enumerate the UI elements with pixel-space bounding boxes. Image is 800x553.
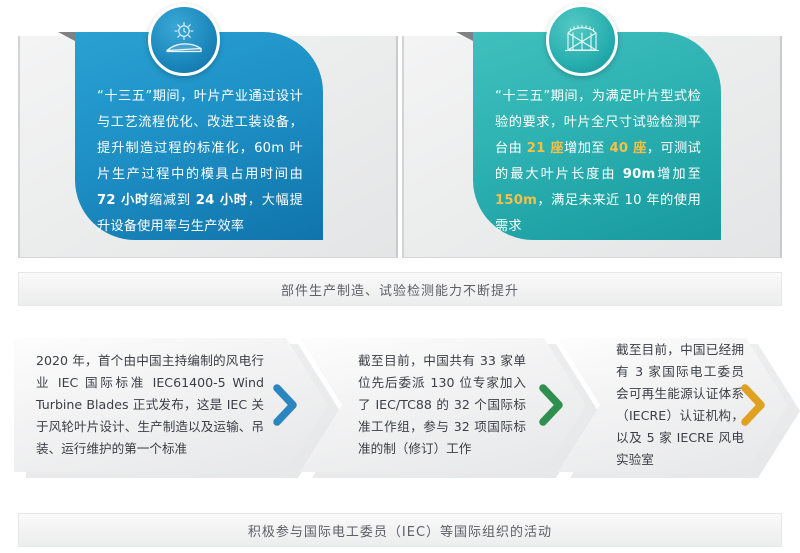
blade-24h-icon — [148, 4, 220, 76]
standards-card-experts-text: 截至目前，中国共有 33 家单位先后委派 130 位专家加入了 IEC/TC88… — [358, 350, 526, 460]
bottom-caption-bar: 积极参与国际电工委员（IEC）等国际组织的活动 — [18, 513, 782, 547]
top-caption-bar: 部件生产制造、试验检测能力不断提升 — [18, 272, 782, 306]
top-section: “十三五”期间，叶片产业通过设计与工艺流程优化、改进工装设备，提升制造过程的标准… — [0, 0, 800, 262]
chevron-right-green-icon — [538, 384, 564, 426]
highlight-card-production-text: “十三五”期间，叶片产业通过设计与工艺流程优化、改进工装设备，提升制造过程的标准… — [97, 84, 303, 240]
corner-fold-icon — [456, 32, 473, 41]
chevron-right-orange-icon — [740, 384, 766, 426]
top-caption-text: 部件生产制造、试验检测能力不断提升 — [281, 280, 519, 299]
chevron-right-blue-icon — [272, 384, 298, 426]
corner-fold-icon — [58, 32, 75, 41]
bottom-section: 截至目前，中国已经拥有 3 家国际电工委员会可再生能源认证体系（IECRE）认证… — [0, 338, 800, 508]
highlight-card-testing-text: “十三五”期间，为满足叶片型式检验的要求，叶片全尺寸试验检测平台由 21 座增加… — [495, 84, 701, 240]
test-platform-icon — [546, 4, 618, 76]
bottom-caption-text: 积极参与国际电工委员（IEC）等国际组织的活动 — [248, 521, 552, 540]
standards-card-iec61400-text: 2020 年，首个由中国主持编制的风电行业 IEC 国际标准 IEC61400-… — [36, 350, 264, 460]
standards-card-iecre-text: 截至目前，中国已经拥有 3 家国际电工委员会可再生能源认证体系（IECRE）认证… — [616, 339, 744, 471]
